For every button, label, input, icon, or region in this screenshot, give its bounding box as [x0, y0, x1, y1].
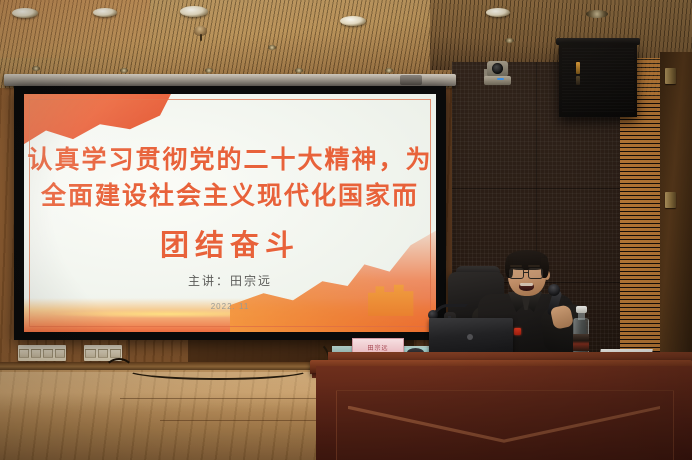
eyeglasses-icon	[528, 268, 543, 279]
bottle-cap	[576, 306, 587, 313]
socket-outlet	[98, 349, 109, 358]
pinlight-icon	[505, 38, 514, 43]
presenter-eyebrow	[528, 265, 540, 267]
downlight-icon	[486, 8, 510, 17]
door-hinge-icon	[665, 192, 676, 208]
presenter-eyebrow	[510, 265, 522, 267]
socket-outlet	[110, 349, 121, 358]
downlight-icon	[93, 8, 117, 17]
slide-text-block: 认真学习贯彻党的二十大精神，为 全面建设社会主义现代化国家而 团结奋斗 主讲：田…	[24, 94, 436, 332]
laptop-logo	[467, 334, 473, 340]
pinlight-icon	[295, 68, 303, 73]
slide-title-line-2: 全面建设社会主义现代化国家而	[24, 176, 436, 212]
pinlight-icon	[385, 68, 393, 73]
pinlight-icon	[205, 68, 213, 73]
floor-cable	[126, 360, 310, 380]
slide-title-line-3: 团结奋斗	[24, 222, 436, 264]
podium-front-panel	[336, 390, 674, 460]
door-hinge-icon	[665, 68, 676, 84]
speaker-grille	[562, 46, 634, 112]
eyeglasses-icon	[509, 268, 524, 279]
camera-status-led	[497, 78, 504, 80]
floor-seam	[120, 398, 320, 399]
projected-slide: 认真学习贯彻党的二十大精神，为 全面建设社会主义现代化国家而 团结奋斗 主讲：田…	[24, 94, 436, 332]
party-pin-icon	[514, 328, 521, 335]
sprinkler-icon	[194, 26, 207, 36]
presenter-teeth	[520, 283, 533, 286]
socket-outlet	[19, 349, 29, 358]
wall-socket-left[interactable]	[18, 345, 66, 361]
slide-date: 2022. 11	[24, 302, 436, 311]
slide-title-line-1: 认真学习贯彻党的二十大精神，为	[24, 140, 436, 176]
slide-speaker-label: 主讲：田宗远	[24, 272, 436, 289]
downlight-icon	[340, 16, 366, 26]
eyeglasses-bridge	[524, 272, 529, 273]
pinlight-icon	[32, 66, 40, 71]
door-frame	[660, 52, 692, 382]
socket-outlet	[43, 349, 53, 358]
socket-outlet	[55, 349, 65, 358]
socket-outlet	[85, 349, 96, 358]
speaker-status-led	[576, 62, 580, 74]
projector-screen-roller[interactable]	[4, 74, 456, 86]
bottle-label	[573, 334, 589, 351]
pinlight-icon	[268, 45, 276, 50]
floor-seam	[160, 420, 320, 421]
socket-outlet	[31, 349, 41, 358]
roller-endcap	[400, 75, 422, 85]
camera-lens-icon	[492, 63, 503, 74]
pinlight-icon	[586, 10, 608, 18]
pinlight-icon	[120, 68, 128, 73]
downlight-icon	[180, 6, 208, 17]
speaker-status-led-secondary	[576, 76, 580, 85]
lecture-hall-photo: 认真学习贯彻党的二十大精神，为 全面建设社会主义现代化国家而 团结奋斗 主讲：田…	[0, 0, 692, 460]
downlight-icon	[12, 8, 38, 18]
